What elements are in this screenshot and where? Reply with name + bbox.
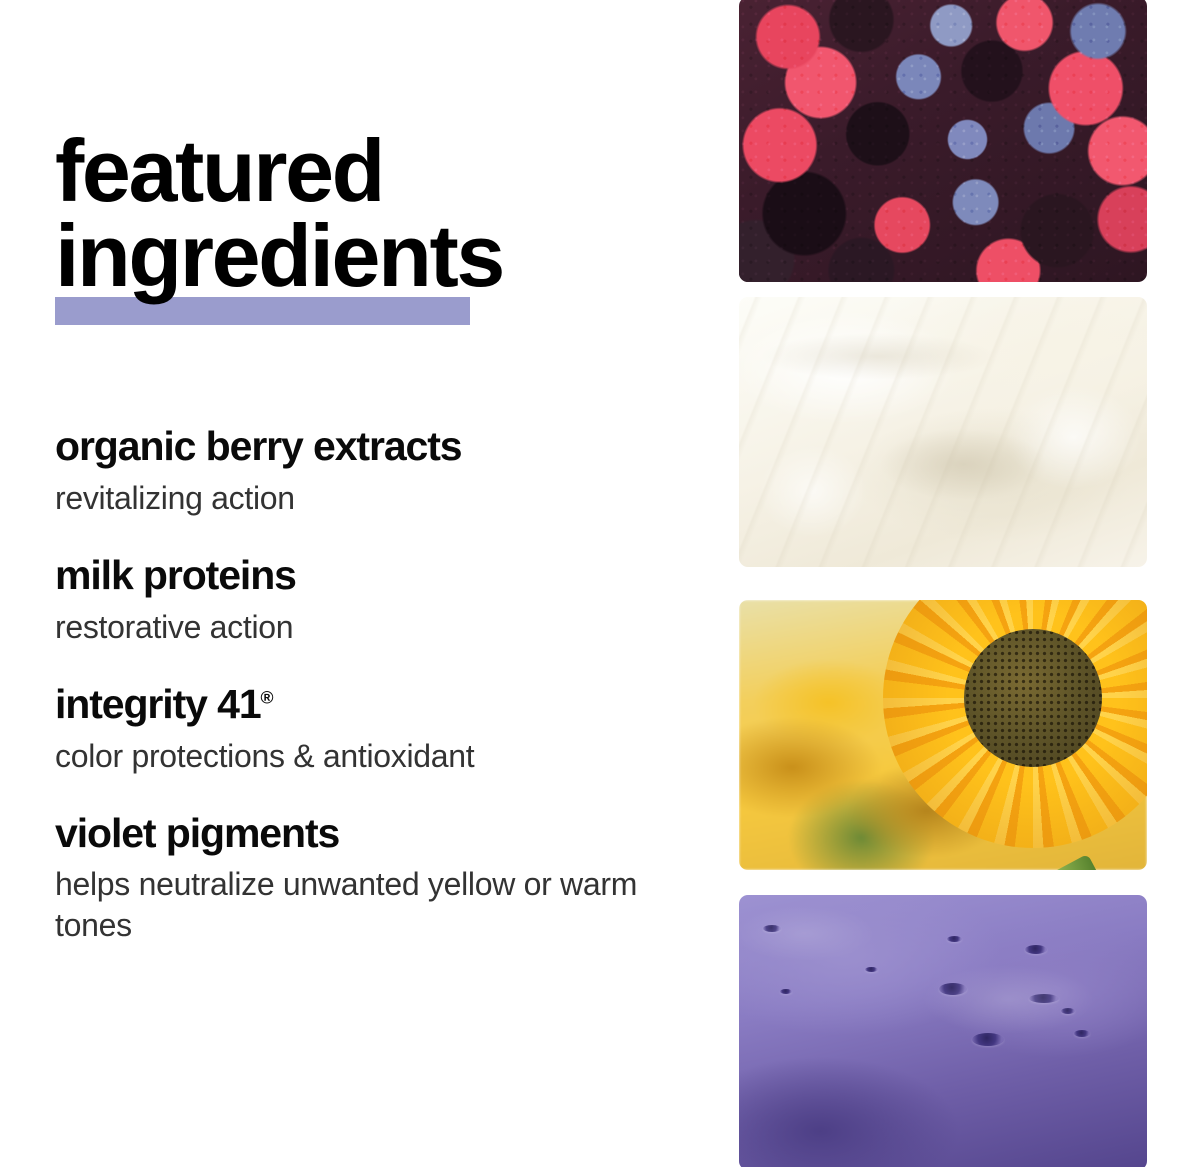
ingredient-name-text: violet pigments (55, 810, 339, 856)
featured-ingredients-panel: featured ingredients organic berry extra… (0, 0, 1200, 1167)
berries-photo-content (739, 0, 1147, 282)
ingredient-name-text: milk proteins (55, 552, 296, 598)
list-item: organic berry extracts revitalizing acti… (55, 424, 675, 519)
ingredient-name: milk proteins (55, 553, 675, 599)
headline-line-two: ingredients (55, 213, 675, 298)
ingredient-name-text: organic berry extracts (55, 423, 462, 469)
ingredient-description: color protections & antioxidant (55, 736, 675, 777)
ingredient-name: violet pigments (55, 811, 675, 857)
berries-texture-layer (739, 0, 1147, 282)
headline-line-one: featured (55, 128, 675, 213)
list-item: violet pigments helps neutralize unwante… (55, 811, 675, 947)
ingredient-name: integrity 41® (55, 682, 675, 728)
mixed-berries-image (739, 0, 1147, 282)
ingredient-name-text: integrity 41 (55, 681, 261, 727)
violet-pigment-image (739, 895, 1147, 1167)
page-title: featured ingredients (55, 128, 675, 299)
sunflower-photo-content (739, 600, 1147, 870)
ingredient-description: restorative action (55, 607, 675, 648)
sunflower-bloom (883, 600, 1147, 848)
content-column: featured ingredients organic berry extra… (0, 0, 700, 1167)
whipped-cream-image (739, 297, 1147, 567)
sunflower-field-image (739, 600, 1147, 870)
registered-trademark-symbol: ® (261, 687, 274, 707)
cream-photo-content (739, 297, 1147, 567)
headline-block: featured ingredients (55, 128, 675, 299)
ingredient-description: revitalizing action (55, 478, 675, 519)
list-item: integrity 41® color protections & antiox… (55, 682, 675, 777)
violet-sheen-layer (739, 895, 1147, 1167)
sunflower-seed-disc (964, 629, 1102, 767)
ingredient-description: helps neutralize unwanted yellow or warm… (55, 864, 675, 946)
violet-photo-content (739, 895, 1147, 1167)
list-item: milk proteins restorative action (55, 553, 675, 648)
ingredient-image-stack (739, 0, 1147, 1167)
cream-ridge-layer (739, 297, 1147, 567)
ingredient-list: organic berry extracts revitalizing acti… (55, 424, 675, 946)
ingredient-name: organic berry extracts (55, 424, 675, 470)
